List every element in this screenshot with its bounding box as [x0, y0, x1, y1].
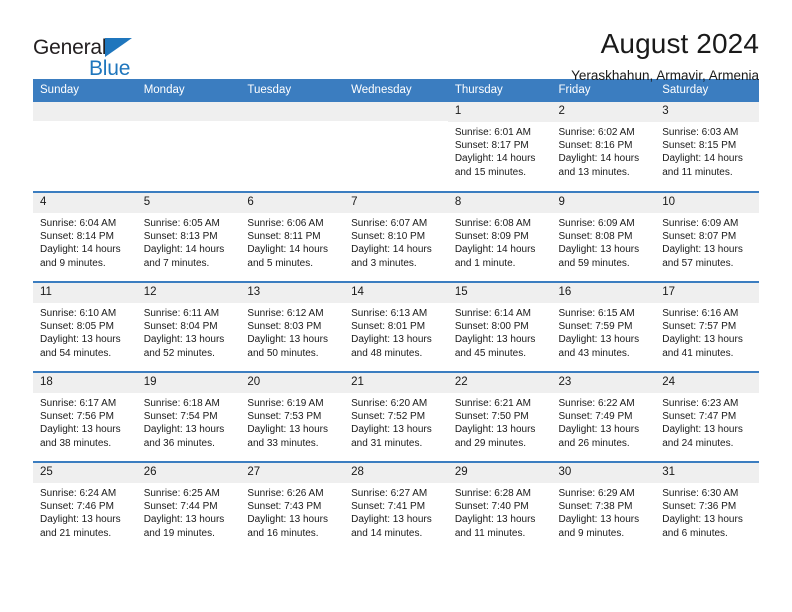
calendar-day-cell[interactable]: 7Sunrise: 6:07 AMSunset: 8:10 PMDaylight…: [344, 192, 448, 282]
sunrise-text: Sunrise: 6:09 AM: [662, 217, 753, 230]
calendar-day-cell[interactable]: 15Sunrise: 6:14 AMSunset: 8:00 PMDayligh…: [448, 282, 552, 372]
calendar-day-cell[interactable]: 12Sunrise: 6:11 AMSunset: 8:04 PMDayligh…: [137, 282, 241, 372]
sunset-text: Sunset: 7:40 PM: [455, 500, 546, 513]
day-sun-info: Sunrise: 6:12 AMSunset: 8:03 PMDaylight:…: [240, 303, 344, 361]
calendar-week-row: 25Sunrise: 6:24 AMSunset: 7:46 PMDayligh…: [33, 462, 759, 552]
calendar-week-row: 4Sunrise: 6:04 AMSunset: 8:14 PMDaylight…: [33, 192, 759, 282]
sunrise-text: Sunrise: 6:18 AM: [144, 397, 235, 410]
daylight-text: Daylight: 13 hours and 11 minutes.: [455, 513, 546, 540]
day-sun-info: Sunrise: 6:25 AMSunset: 7:44 PMDaylight:…: [137, 483, 241, 541]
sunrise-text: Sunrise: 6:17 AM: [40, 397, 131, 410]
day-sun-info: Sunrise: 6:16 AMSunset: 7:57 PMDaylight:…: [655, 303, 759, 361]
daylight-text: Daylight: 14 hours and 9 minutes.: [40, 243, 131, 270]
daylight-text: Daylight: 13 hours and 50 minutes.: [247, 333, 338, 360]
sunrise-text: Sunrise: 6:21 AM: [455, 397, 546, 410]
calendar-day-cell-empty: [137, 102, 241, 192]
calendar-day-cell[interactable]: 1Sunrise: 6:01 AMSunset: 8:17 PMDaylight…: [448, 102, 552, 192]
daylight-text: Daylight: 14 hours and 7 minutes.: [144, 243, 235, 270]
calendar-day-cell[interactable]: 29Sunrise: 6:28 AMSunset: 7:40 PMDayligh…: [448, 462, 552, 552]
day-number: [240, 102, 344, 121]
day-sun-info: Sunrise: 6:19 AMSunset: 7:53 PMDaylight:…: [240, 393, 344, 451]
day-number: 23: [552, 373, 656, 393]
calendar-day-cell[interactable]: 23Sunrise: 6:22 AMSunset: 7:49 PMDayligh…: [552, 372, 656, 462]
day-number: [344, 102, 448, 121]
sunset-text: Sunset: 7:36 PM: [662, 500, 753, 513]
day-number: 17: [655, 283, 759, 303]
day-sun-info: Sunrise: 6:27 AMSunset: 7:41 PMDaylight:…: [344, 483, 448, 541]
sunrise-text: Sunrise: 6:15 AM: [559, 307, 650, 320]
daylight-text: Daylight: 13 hours and 9 minutes.: [559, 513, 650, 540]
sunset-text: Sunset: 8:01 PM: [351, 320, 442, 333]
day-sun-info: Sunrise: 6:28 AMSunset: 7:40 PMDaylight:…: [448, 483, 552, 541]
calendar-day-cell[interactable]: 27Sunrise: 6:26 AMSunset: 7:43 PMDayligh…: [240, 462, 344, 552]
sunrise-text: Sunrise: 6:02 AM: [559, 126, 650, 139]
daylight-text: Daylight: 13 hours and 45 minutes.: [455, 333, 546, 360]
calendar-day-cell[interactable]: 17Sunrise: 6:16 AMSunset: 7:57 PMDayligh…: [655, 282, 759, 372]
daylight-text: Daylight: 13 hours and 57 minutes.: [662, 243, 753, 270]
day-number: 2: [552, 102, 656, 122]
sunrise-text: Sunrise: 6:11 AM: [144, 307, 235, 320]
sunrise-text: Sunrise: 6:28 AM: [455, 487, 546, 500]
sunrise-text: Sunrise: 6:07 AM: [351, 217, 442, 230]
sunrise-text: Sunrise: 6:06 AM: [247, 217, 338, 230]
day-number: 4: [33, 193, 137, 213]
sunrise-text: Sunrise: 6:12 AM: [247, 307, 338, 320]
calendar-day-cell-empty: [33, 102, 137, 192]
daylight-text: Daylight: 13 hours and 19 minutes.: [144, 513, 235, 540]
calendar-day-cell[interactable]: 2Sunrise: 6:02 AMSunset: 8:16 PMDaylight…: [552, 102, 656, 192]
sunset-text: Sunset: 8:08 PM: [559, 230, 650, 243]
sunset-text: Sunset: 7:57 PM: [662, 320, 753, 333]
sunrise-text: Sunrise: 6:10 AM: [40, 307, 131, 320]
sunset-text: Sunset: 8:07 PM: [662, 230, 753, 243]
calendar-day-cell-empty: [344, 102, 448, 192]
calendar-day-cell[interactable]: 22Sunrise: 6:21 AMSunset: 7:50 PMDayligh…: [448, 372, 552, 462]
daylight-text: Daylight: 13 hours and 26 minutes.: [559, 423, 650, 450]
calendar-page: General Blue August 2024 Yeraskhahun, Ar…: [0, 0, 792, 612]
daylight-text: Daylight: 13 hours and 16 minutes.: [247, 513, 338, 540]
day-sun-info: Sunrise: 6:29 AMSunset: 7:38 PMDaylight:…: [552, 483, 656, 541]
day-sun-info: Sunrise: 6:24 AMSunset: 7:46 PMDaylight:…: [33, 483, 137, 541]
daylight-text: Daylight: 14 hours and 15 minutes.: [455, 152, 546, 179]
day-sun-info: Sunrise: 6:21 AMSunset: 7:50 PMDaylight:…: [448, 393, 552, 451]
sunrise-text: Sunrise: 6:22 AM: [559, 397, 650, 410]
day-number: [33, 102, 137, 121]
sunset-text: Sunset: 8:15 PM: [662, 139, 753, 152]
calendar-day-cell[interactable]: 8Sunrise: 6:08 AMSunset: 8:09 PMDaylight…: [448, 192, 552, 282]
day-number: 14: [344, 283, 448, 303]
calendar-day-cell[interactable]: 5Sunrise: 6:05 AMSunset: 8:13 PMDaylight…: [137, 192, 241, 282]
day-number: 31: [655, 463, 759, 483]
sunrise-text: Sunrise: 6:13 AM: [351, 307, 442, 320]
sunset-text: Sunset: 8:11 PM: [247, 230, 338, 243]
calendar-day-cell-empty: [240, 102, 344, 192]
calendar-day-cell[interactable]: 26Sunrise: 6:25 AMSunset: 7:44 PMDayligh…: [137, 462, 241, 552]
sunset-text: Sunset: 8:03 PM: [247, 320, 338, 333]
day-number: 21: [344, 373, 448, 393]
calendar-day-cell[interactable]: 31Sunrise: 6:30 AMSunset: 7:36 PMDayligh…: [655, 462, 759, 552]
day-number: 8: [448, 193, 552, 213]
day-sun-info: Sunrise: 6:14 AMSunset: 8:00 PMDaylight:…: [448, 303, 552, 361]
day-number: 24: [655, 373, 759, 393]
day-sun-info: Sunrise: 6:03 AMSunset: 8:15 PMDaylight:…: [655, 122, 759, 180]
day-sun-info: Sunrise: 6:10 AMSunset: 8:05 PMDaylight:…: [33, 303, 137, 361]
day-number: 10: [655, 193, 759, 213]
sunset-text: Sunset: 8:10 PM: [351, 230, 442, 243]
sunrise-text: Sunrise: 6:26 AM: [247, 487, 338, 500]
day-sun-info: Sunrise: 6:20 AMSunset: 7:52 PMDaylight:…: [344, 393, 448, 451]
daylight-text: Daylight: 13 hours and 36 minutes.: [144, 423, 235, 450]
sunrise-text: Sunrise: 6:29 AM: [559, 487, 650, 500]
sunrise-sunset-calendar: Sunday Monday Tuesday Wednesday Thursday…: [33, 79, 759, 552]
daylight-text: Daylight: 13 hours and 59 minutes.: [559, 243, 650, 270]
sunset-text: Sunset: 7:38 PM: [559, 500, 650, 513]
calendar-week-row: 11Sunrise: 6:10 AMSunset: 8:05 PMDayligh…: [33, 282, 759, 372]
daylight-text: Daylight: 13 hours and 41 minutes.: [662, 333, 753, 360]
sunset-text: Sunset: 7:41 PM: [351, 500, 442, 513]
daylight-text: Daylight: 13 hours and 43 minutes.: [559, 333, 650, 360]
daylight-text: Daylight: 13 hours and 31 minutes.: [351, 423, 442, 450]
day-sun-info: Sunrise: 6:09 AMSunset: 8:07 PMDaylight:…: [655, 213, 759, 271]
sunset-text: Sunset: 7:47 PM: [662, 410, 753, 423]
brand-name-blue: Blue: [89, 58, 130, 79]
day-sun-info: Sunrise: 6:18 AMSunset: 7:54 PMDaylight:…: [137, 393, 241, 451]
sunset-text: Sunset: 8:04 PM: [144, 320, 235, 333]
sunrise-text: Sunrise: 6:25 AM: [144, 487, 235, 500]
sunset-text: Sunset: 7:43 PM: [247, 500, 338, 513]
title-block: August 2024 Yeraskhahun, Armavir, Armeni…: [571, 28, 759, 84]
sunrise-text: Sunrise: 6:19 AM: [247, 397, 338, 410]
weekday-header-wednesday: Wednesday: [344, 79, 448, 102]
day-sun-info: Sunrise: 6:13 AMSunset: 8:01 PMDaylight:…: [344, 303, 448, 361]
day-number: 29: [448, 463, 552, 483]
calendar-week-row: 18Sunrise: 6:17 AMSunset: 7:56 PMDayligh…: [33, 372, 759, 462]
day-sun-info: Sunrise: 6:05 AMSunset: 8:13 PMDaylight:…: [137, 213, 241, 271]
day-number: 13: [240, 283, 344, 303]
weekday-header-tuesday: Tuesday: [240, 79, 344, 102]
daylight-text: Daylight: 13 hours and 6 minutes.: [662, 513, 753, 540]
sunset-text: Sunset: 7:44 PM: [144, 500, 235, 513]
day-number: 5: [137, 193, 241, 213]
calendar-day-cell[interactable]: 10Sunrise: 6:09 AMSunset: 8:07 PMDayligh…: [655, 192, 759, 282]
day-sun-info: Sunrise: 6:26 AMSunset: 7:43 PMDaylight:…: [240, 483, 344, 541]
day-sun-info: Sunrise: 6:07 AMSunset: 8:10 PMDaylight:…: [344, 213, 448, 271]
day-sun-info: Sunrise: 6:22 AMSunset: 7:49 PMDaylight:…: [552, 393, 656, 451]
sunrise-text: Sunrise: 6:16 AM: [662, 307, 753, 320]
sunset-text: Sunset: 8:13 PM: [144, 230, 235, 243]
sunrise-text: Sunrise: 6:23 AM: [662, 397, 753, 410]
sunset-text: Sunset: 8:00 PM: [455, 320, 546, 333]
calendar-day-cell[interactable]: 14Sunrise: 6:13 AMSunset: 8:01 PMDayligh…: [344, 282, 448, 372]
day-sun-info: Sunrise: 6:11 AMSunset: 8:04 PMDaylight:…: [137, 303, 241, 361]
calendar-body: 1Sunrise: 6:01 AMSunset: 8:17 PMDaylight…: [33, 102, 759, 552]
sunrise-text: Sunrise: 6:03 AM: [662, 126, 753, 139]
day-number: 3: [655, 102, 759, 122]
day-sun-info: Sunrise: 6:02 AMSunset: 8:16 PMDaylight:…: [552, 122, 656, 180]
page-title: August 2024: [571, 28, 759, 60]
sunset-text: Sunset: 7:50 PM: [455, 410, 546, 423]
sunset-text: Sunset: 8:17 PM: [455, 139, 546, 152]
daylight-text: Daylight: 13 hours and 54 minutes.: [40, 333, 131, 360]
calendar-day-cell[interactable]: 16Sunrise: 6:15 AMSunset: 7:59 PMDayligh…: [552, 282, 656, 372]
calendar-day-cell[interactable]: 6Sunrise: 6:06 AMSunset: 8:11 PMDaylight…: [240, 192, 344, 282]
calendar-week-row: 1Sunrise: 6:01 AMSunset: 8:17 PMDaylight…: [33, 102, 759, 192]
daylight-text: Daylight: 13 hours and 33 minutes.: [247, 423, 338, 450]
day-number: 20: [240, 373, 344, 393]
daylight-text: Daylight: 14 hours and 1 minute.: [455, 243, 546, 270]
daylight-text: Daylight: 14 hours and 3 minutes.: [351, 243, 442, 270]
sunrise-text: Sunrise: 6:09 AM: [559, 217, 650, 230]
calendar-day-cell[interactable]: 30Sunrise: 6:29 AMSunset: 7:38 PMDayligh…: [552, 462, 656, 552]
day-number: 11: [33, 283, 137, 303]
weekday-header-thursday: Thursday: [448, 79, 552, 102]
calendar-day-cell[interactable]: 19Sunrise: 6:18 AMSunset: 7:54 PMDayligh…: [137, 372, 241, 462]
day-number: 12: [137, 283, 241, 303]
daylight-text: Daylight: 13 hours and 29 minutes.: [455, 423, 546, 450]
day-sun-info: Sunrise: 6:17 AMSunset: 7:56 PMDaylight:…: [33, 393, 137, 451]
day-number: 19: [137, 373, 241, 393]
sunset-text: Sunset: 7:59 PM: [559, 320, 650, 333]
sunrise-text: Sunrise: 6:08 AM: [455, 217, 546, 230]
calendar-day-cell[interactable]: 13Sunrise: 6:12 AMSunset: 8:03 PMDayligh…: [240, 282, 344, 372]
day-number: 6: [240, 193, 344, 213]
daylight-text: Daylight: 14 hours and 13 minutes.: [559, 152, 650, 179]
day-number: 28: [344, 463, 448, 483]
day-sun-info: Sunrise: 6:08 AMSunset: 8:09 PMDaylight:…: [448, 213, 552, 271]
brand-logo[interactable]: General Blue: [33, 28, 163, 84]
day-number: 15: [448, 283, 552, 303]
sunset-text: Sunset: 7:54 PM: [144, 410, 235, 423]
daylight-text: Daylight: 14 hours and 5 minutes.: [247, 243, 338, 270]
calendar-day-cell[interactable]: 21Sunrise: 6:20 AMSunset: 7:52 PMDayligh…: [344, 372, 448, 462]
day-number: 27: [240, 463, 344, 483]
daylight-text: Daylight: 14 hours and 11 minutes.: [662, 152, 753, 179]
page-subtitle: Yeraskhahun, Armavir, Armenia: [571, 68, 759, 84]
day-sun-info: Sunrise: 6:30 AMSunset: 7:36 PMDaylight:…: [655, 483, 759, 541]
daylight-text: Daylight: 13 hours and 14 minutes.: [351, 513, 442, 540]
brand-triangle-icon: [105, 38, 132, 57]
day-sun-info: Sunrise: 6:09 AMSunset: 8:08 PMDaylight:…: [552, 213, 656, 271]
day-number: 22: [448, 373, 552, 393]
calendar-day-cell[interactable]: 4Sunrise: 6:04 AMSunset: 8:14 PMDaylight…: [33, 192, 137, 282]
sunset-text: Sunset: 8:05 PM: [40, 320, 131, 333]
calendar-day-cell[interactable]: 11Sunrise: 6:10 AMSunset: 8:05 PMDayligh…: [33, 282, 137, 372]
sunset-text: Sunset: 7:52 PM: [351, 410, 442, 423]
day-number: 1: [448, 102, 552, 122]
sunset-text: Sunset: 8:14 PM: [40, 230, 131, 243]
day-sun-info: Sunrise: 6:15 AMSunset: 7:59 PMDaylight:…: [552, 303, 656, 361]
daylight-text: Daylight: 13 hours and 52 minutes.: [144, 333, 235, 360]
sunrise-text: Sunrise: 6:27 AM: [351, 487, 442, 500]
calendar-day-cell[interactable]: 20Sunrise: 6:19 AMSunset: 7:53 PMDayligh…: [240, 372, 344, 462]
day-number: 30: [552, 463, 656, 483]
sunset-text: Sunset: 7:46 PM: [40, 500, 131, 513]
sunrise-text: Sunrise: 6:14 AM: [455, 307, 546, 320]
sunrise-text: Sunrise: 6:01 AM: [455, 126, 546, 139]
day-number: 18: [33, 373, 137, 393]
day-number: 9: [552, 193, 656, 213]
calendar-day-cell[interactable]: 25Sunrise: 6:24 AMSunset: 7:46 PMDayligh…: [33, 462, 137, 552]
daylight-text: Daylight: 13 hours and 24 minutes.: [662, 423, 753, 450]
sunset-text: Sunset: 7:53 PM: [247, 410, 338, 423]
calendar-day-cell[interactable]: 24Sunrise: 6:23 AMSunset: 7:47 PMDayligh…: [655, 372, 759, 462]
calendar-day-cell[interactable]: 3Sunrise: 6:03 AMSunset: 8:15 PMDaylight…: [655, 102, 759, 192]
day-sun-info: Sunrise: 6:04 AMSunset: 8:14 PMDaylight:…: [33, 213, 137, 271]
day-number: 16: [552, 283, 656, 303]
day-sun-info: Sunrise: 6:06 AMSunset: 8:11 PMDaylight:…: [240, 213, 344, 271]
day-sun-info: Sunrise: 6:01 AMSunset: 8:17 PMDaylight:…: [448, 122, 552, 180]
calendar-day-cell[interactable]: 28Sunrise: 6:27 AMSunset: 7:41 PMDayligh…: [344, 462, 448, 552]
day-number: 26: [137, 463, 241, 483]
day-sun-info: Sunrise: 6:23 AMSunset: 7:47 PMDaylight:…: [655, 393, 759, 451]
brand-name-general: General: [33, 37, 106, 58]
daylight-text: Daylight: 13 hours and 21 minutes.: [40, 513, 131, 540]
daylight-text: Daylight: 13 hours and 38 minutes.: [40, 423, 131, 450]
calendar-day-cell[interactable]: 18Sunrise: 6:17 AMSunset: 7:56 PMDayligh…: [33, 372, 137, 462]
daylight-text: Daylight: 13 hours and 48 minutes.: [351, 333, 442, 360]
sunrise-text: Sunrise: 6:05 AM: [144, 217, 235, 230]
sunrise-text: Sunrise: 6:30 AM: [662, 487, 753, 500]
day-number: 25: [33, 463, 137, 483]
calendar-day-cell[interactable]: 9Sunrise: 6:09 AMSunset: 8:08 PMDaylight…: [552, 192, 656, 282]
sunrise-text: Sunrise: 6:04 AM: [40, 217, 131, 230]
sunset-text: Sunset: 7:49 PM: [559, 410, 650, 423]
sunrise-text: Sunrise: 6:20 AM: [351, 397, 442, 410]
page-header: General Blue August 2024 Yeraskhahun, Ar…: [33, 0, 759, 72]
sunset-text: Sunset: 8:16 PM: [559, 139, 650, 152]
sunset-text: Sunset: 8:09 PM: [455, 230, 546, 243]
sunset-text: Sunset: 7:56 PM: [40, 410, 131, 423]
sunrise-text: Sunrise: 6:24 AM: [40, 487, 131, 500]
day-number: [137, 102, 241, 121]
day-number: 7: [344, 193, 448, 213]
